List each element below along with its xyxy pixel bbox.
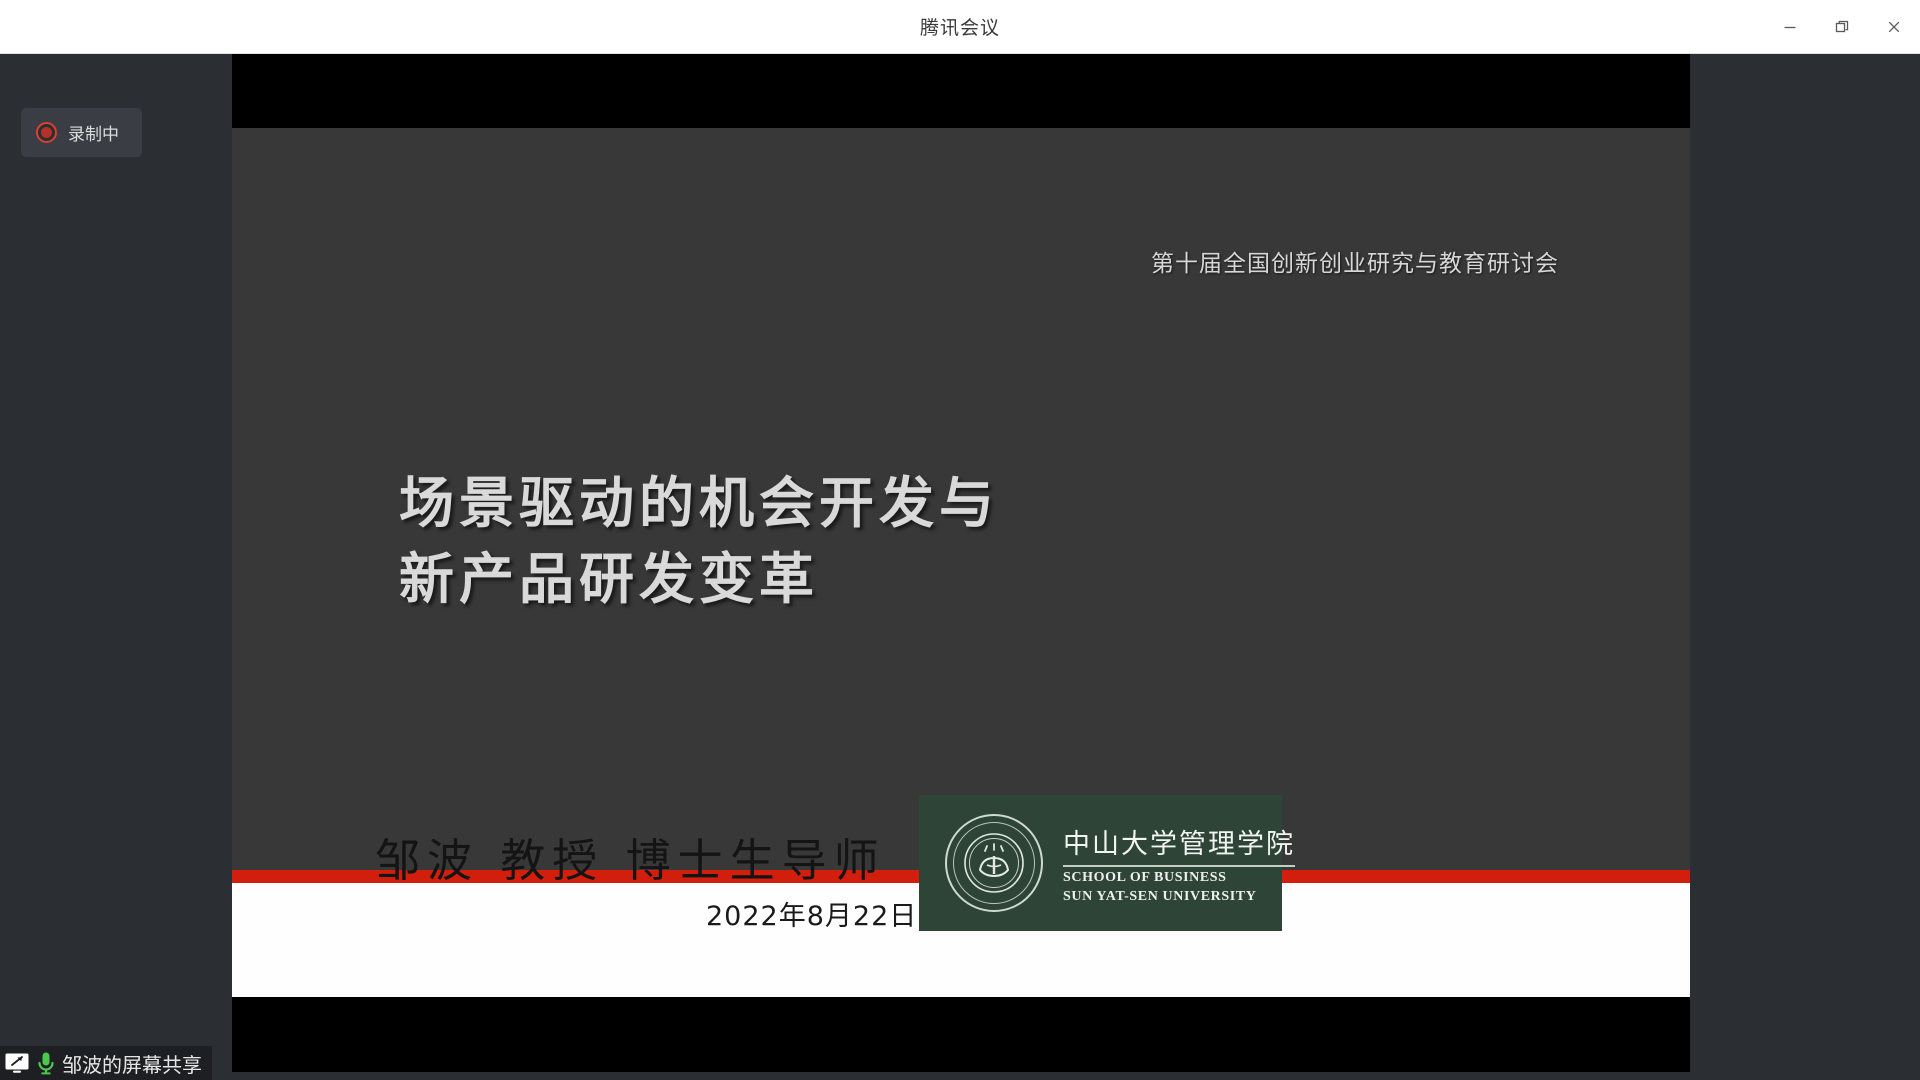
university-name-en-line1: SCHOOL OF BUSINESS xyxy=(1063,870,1295,886)
window-controls xyxy=(1764,0,1920,54)
minimize-icon xyxy=(1782,19,1798,35)
recording-indicator[interactable]: 录制中 xyxy=(21,108,142,157)
screen-share-icon xyxy=(4,1052,30,1074)
sun-yat-sen-seal-icon xyxy=(945,814,1043,912)
title-bar[interactable]: 腾讯会议 xyxy=(0,0,1920,54)
window-title: 腾讯会议 xyxy=(920,13,1000,40)
slide-footer: 邹波 教授 博士生导师 2022年8月22日 xyxy=(232,883,1690,997)
restore-icon xyxy=(1834,19,1850,35)
speaker-name: 邹波 教授 博士生导师 xyxy=(375,824,886,889)
record-dot-icon xyxy=(36,122,57,143)
slide-date: 2022年8月22日 xyxy=(706,894,917,933)
university-name-en-line2: SUN YAT-SEN UNIVERSITY xyxy=(1063,889,1295,905)
meeting-stage: 录制中 第十届全国创新创业研究与教育研讨会 场景驱动的机会开发与 新产品研发变革… xyxy=(0,54,1920,1080)
minimize-button[interactable] xyxy=(1764,0,1816,54)
close-icon xyxy=(1886,19,1902,35)
restore-button[interactable] xyxy=(1816,0,1868,54)
recording-label: 录制中 xyxy=(68,120,119,145)
slide-title: 场景驱动的机会开发与 新产品研发变革 xyxy=(399,466,1299,618)
slide-kicker: 第十届全国创新创业研究与教育研讨会 xyxy=(1151,244,1559,278)
shared-screen-viewport[interactable]: 第十届全国创新创业研究与教育研讨会 场景驱动的机会开发与 新产品研发变革 邹波 … xyxy=(232,54,1690,1072)
share-status-label: 邹波的屏幕共享 xyxy=(62,1049,202,1078)
microphone-icon xyxy=(36,1051,56,1075)
tencent-meeting-window: 腾讯会议 xyxy=(0,0,1920,1080)
university-logo: 中山大学管理学院 SCHOOL OF BUSINESS SUN YAT-SEN … xyxy=(919,795,1282,931)
share-status-bar[interactable]: 邹波的屏幕共享 xyxy=(0,1046,212,1080)
university-name-cn: 中山大学管理学院 xyxy=(1063,822,1295,867)
close-button[interactable] xyxy=(1868,0,1920,54)
university-logo-text: 中山大学管理学院 SCHOOL OF BUSINESS SUN YAT-SEN … xyxy=(1063,822,1295,905)
presentation-slide: 第十届全国创新创业研究与教育研讨会 场景驱动的机会开发与 新产品研发变革 邹波 … xyxy=(232,128,1690,997)
